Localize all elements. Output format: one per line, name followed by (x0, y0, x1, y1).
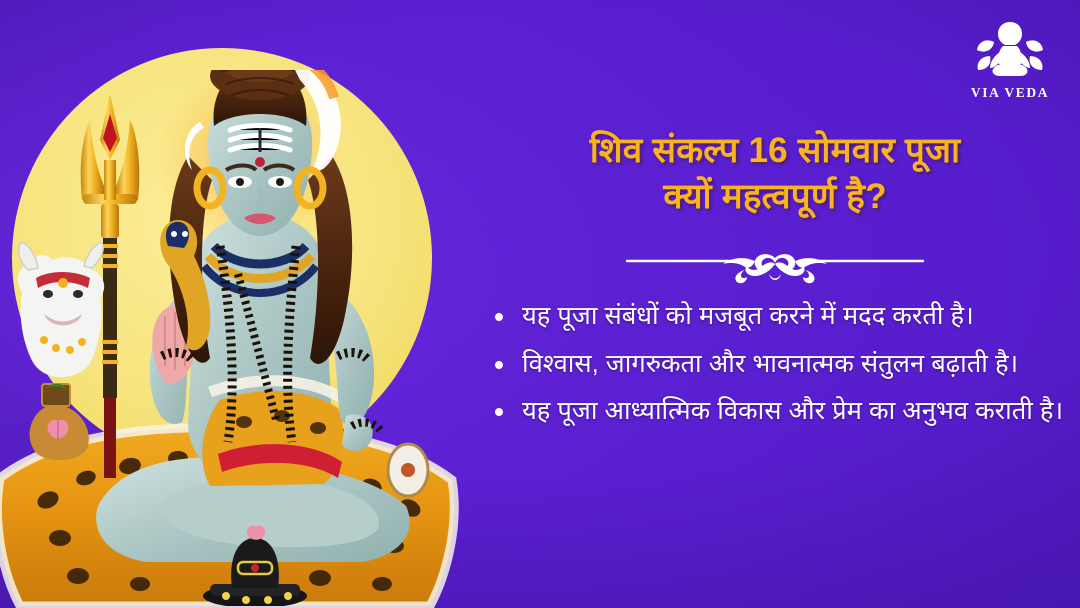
page-title-line-1: शिव संकल्प 16 सोमवार पूजा (482, 128, 1068, 174)
list-item: यह पूजा संबंधों को मजबूत करने में मदद कर… (484, 298, 1076, 336)
shivling-icon (200, 526, 310, 606)
page-title: शिव संकल्प 16 सोमवार पूजा क्यों महत्वपूर… (482, 128, 1068, 219)
bullet-dot-icon (495, 361, 503, 369)
list-item-text: यह पूजा संबंधों को मजबूत करने में मदद कर… (522, 302, 974, 330)
list-item: यह पूजा आध्यात्मिक विकास और प्रेम का अनु… (484, 393, 1076, 431)
benefits-list: यह पूजा संबंधों को मजबूत करने में मदद कर… (484, 298, 1076, 441)
list-item: विश्वास, जागरुकता और भावनात्मक संतुलन बढ… (484, 346, 1076, 384)
shiva-artwork (0, 0, 470, 608)
bullet-dot-icon (495, 313, 503, 321)
poster-canvas: VIA VEDA शिव संकल्प 16 सोमवार पूजा क्यों… (0, 0, 1080, 608)
page-title-line-2: क्यों महत्वपूर्ण है? (482, 174, 1068, 220)
brand-name: VIA VEDA (962, 86, 1058, 100)
meditating-figure-lotus-icon (976, 18, 1044, 84)
list-item-text: विश्वास, जागरुकता और भावनात्मक संतुलन बढ… (522, 350, 1018, 378)
content-column: VIA VEDA शिव संकल्प 16 सोमवार पूजा क्यों… (470, 0, 1080, 608)
bullet-dot-icon (495, 408, 503, 416)
ornamental-flourish-divider (625, 252, 925, 286)
list-item-text: यह पूजा आध्यात्मिक विकास और प्रेम का अनु… (522, 397, 1063, 425)
brand-logo[interactable]: VIA VEDA (962, 18, 1058, 100)
